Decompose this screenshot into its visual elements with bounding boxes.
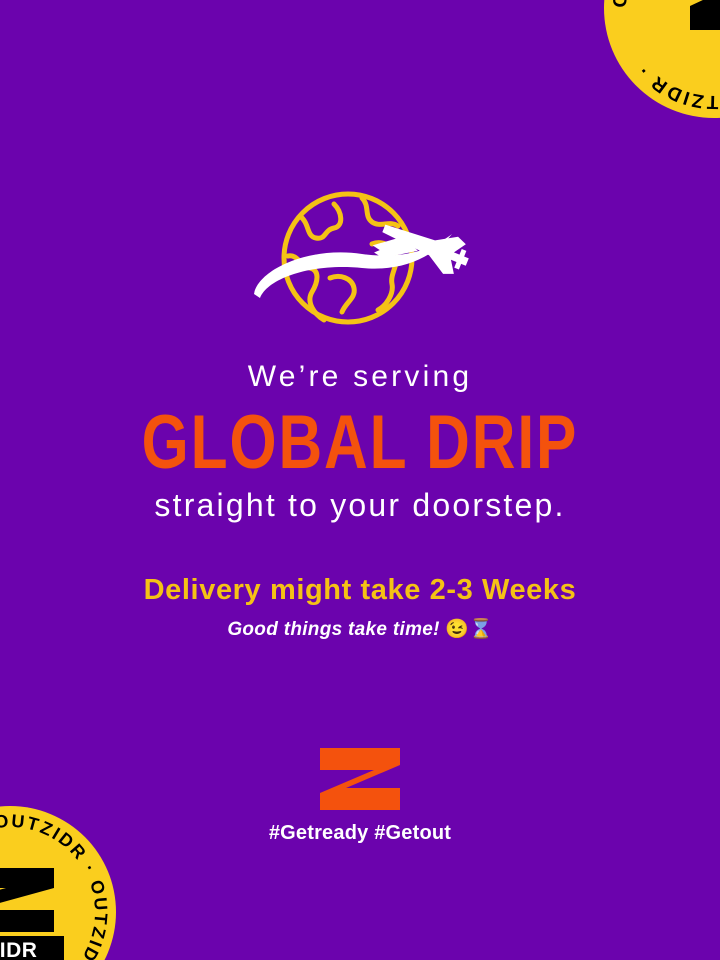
hashtags: #Getready #Getout — [0, 822, 720, 845]
subhead-text: straight to your doorstep. — [0, 487, 720, 524]
svg-text:OUTZIDR: OUTZIDR — [0, 939, 37, 960]
z-logo-icon — [320, 748, 400, 810]
wink-hourglass-emoji: 😉⌛ — [445, 619, 492, 640]
copy-block: We’re serving GLOBAL DRIP straight to yo… — [0, 360, 720, 642]
page-title: GLOBAL DRIP — [14, 403, 705, 482]
footer-block: #Getready #Getout — [0, 748, 720, 845]
badge-wordmark: OUTZIDR — [0, 936, 64, 960]
tagline: Good things take time! 😉⌛ — [0, 619, 720, 642]
delivery-estimate: Delivery might take 2-3 Weeks — [0, 574, 720, 607]
promo-poster: OUTZIDR · OUTZIDR · OUTZIDR · OUTZIDR · … — [0, 0, 720, 960]
badge-z-mark — [690, 0, 720, 30]
brand-badge-top-right: OUTZIDR · OUTZIDR · OUTZIDR · OUTZIDR · — [604, 0, 720, 118]
tagline-text: Good things take time! — [227, 619, 439, 640]
eyebrow-text: We’re serving — [0, 360, 720, 394]
badge-z-mark — [0, 868, 54, 932]
globe-airplane-illustration — [238, 182, 486, 340]
airplane-icon — [370, 208, 475, 288]
